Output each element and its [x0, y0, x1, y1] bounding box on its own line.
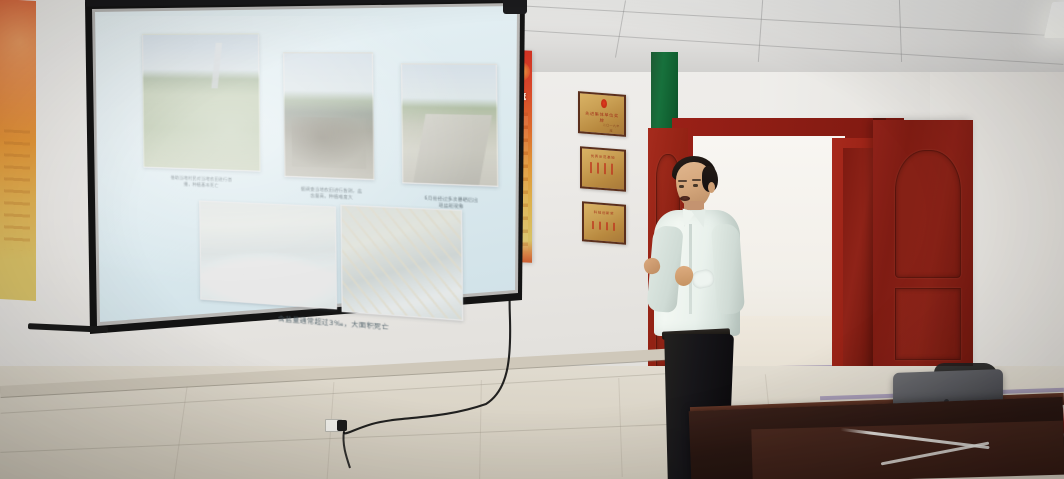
- plaque-1-subtitle: 二〇一九年度: [601, 122, 621, 134]
- slide-caption-1: 借助当地村民对当地农田进行首 播，种植基本死亡: [129, 173, 275, 190]
- wall-plaque-3: 科技创新奖: [582, 201, 626, 244]
- power-plug-icon: [337, 420, 347, 431]
- projection-screen: 借助当地村民对当地农田进行首 播，种植基本死亡 据调查当地农田进行皆测，盐 含量…: [6, 0, 526, 356]
- presenter-ear: [708, 182, 715, 193]
- desk-surface: [751, 421, 1064, 479]
- wall-plaque-1: 先进集体单位奖牌 二〇一九年度: [578, 91, 626, 137]
- plaque-2-title: 优秀示范基地: [586, 152, 620, 160]
- wall-plaque-2: 优秀示范基地: [580, 146, 626, 192]
- plaque-2-text-bars: [590, 162, 615, 175]
- slide-photo-flooded-mud: [283, 52, 374, 180]
- plaque-3-title: 科技创新奖: [588, 209, 620, 217]
- slide-photo-dry-reeds: [199, 200, 337, 309]
- room-photo-scene: 发展流程 先进集体单位奖牌 二〇一九年度 优秀示范基地 科技创新奖 借助当地村民…: [0, 0, 1064, 479]
- slide-content: 借助当地村民对当地农田进行首 播，种植基本死亡 据调查当地农田进行皆测，盐 含量…: [98, 7, 573, 363]
- ceiling-light-glow: [1060, 0, 1064, 14]
- slide-photo-field-green: [142, 33, 260, 171]
- slide-photo-dirt-road: [401, 63, 498, 187]
- plaque-emblem-icon: [601, 99, 607, 108]
- slide-caption-2: 据调查当地农田进行皆测，盐 含量高，种植难度大: [276, 185, 389, 202]
- inner-open-door[interactable]: [843, 148, 877, 370]
- screen-roller-cap: [503, 0, 527, 14]
- slide-photo-dead-stalks: [340, 205, 463, 321]
